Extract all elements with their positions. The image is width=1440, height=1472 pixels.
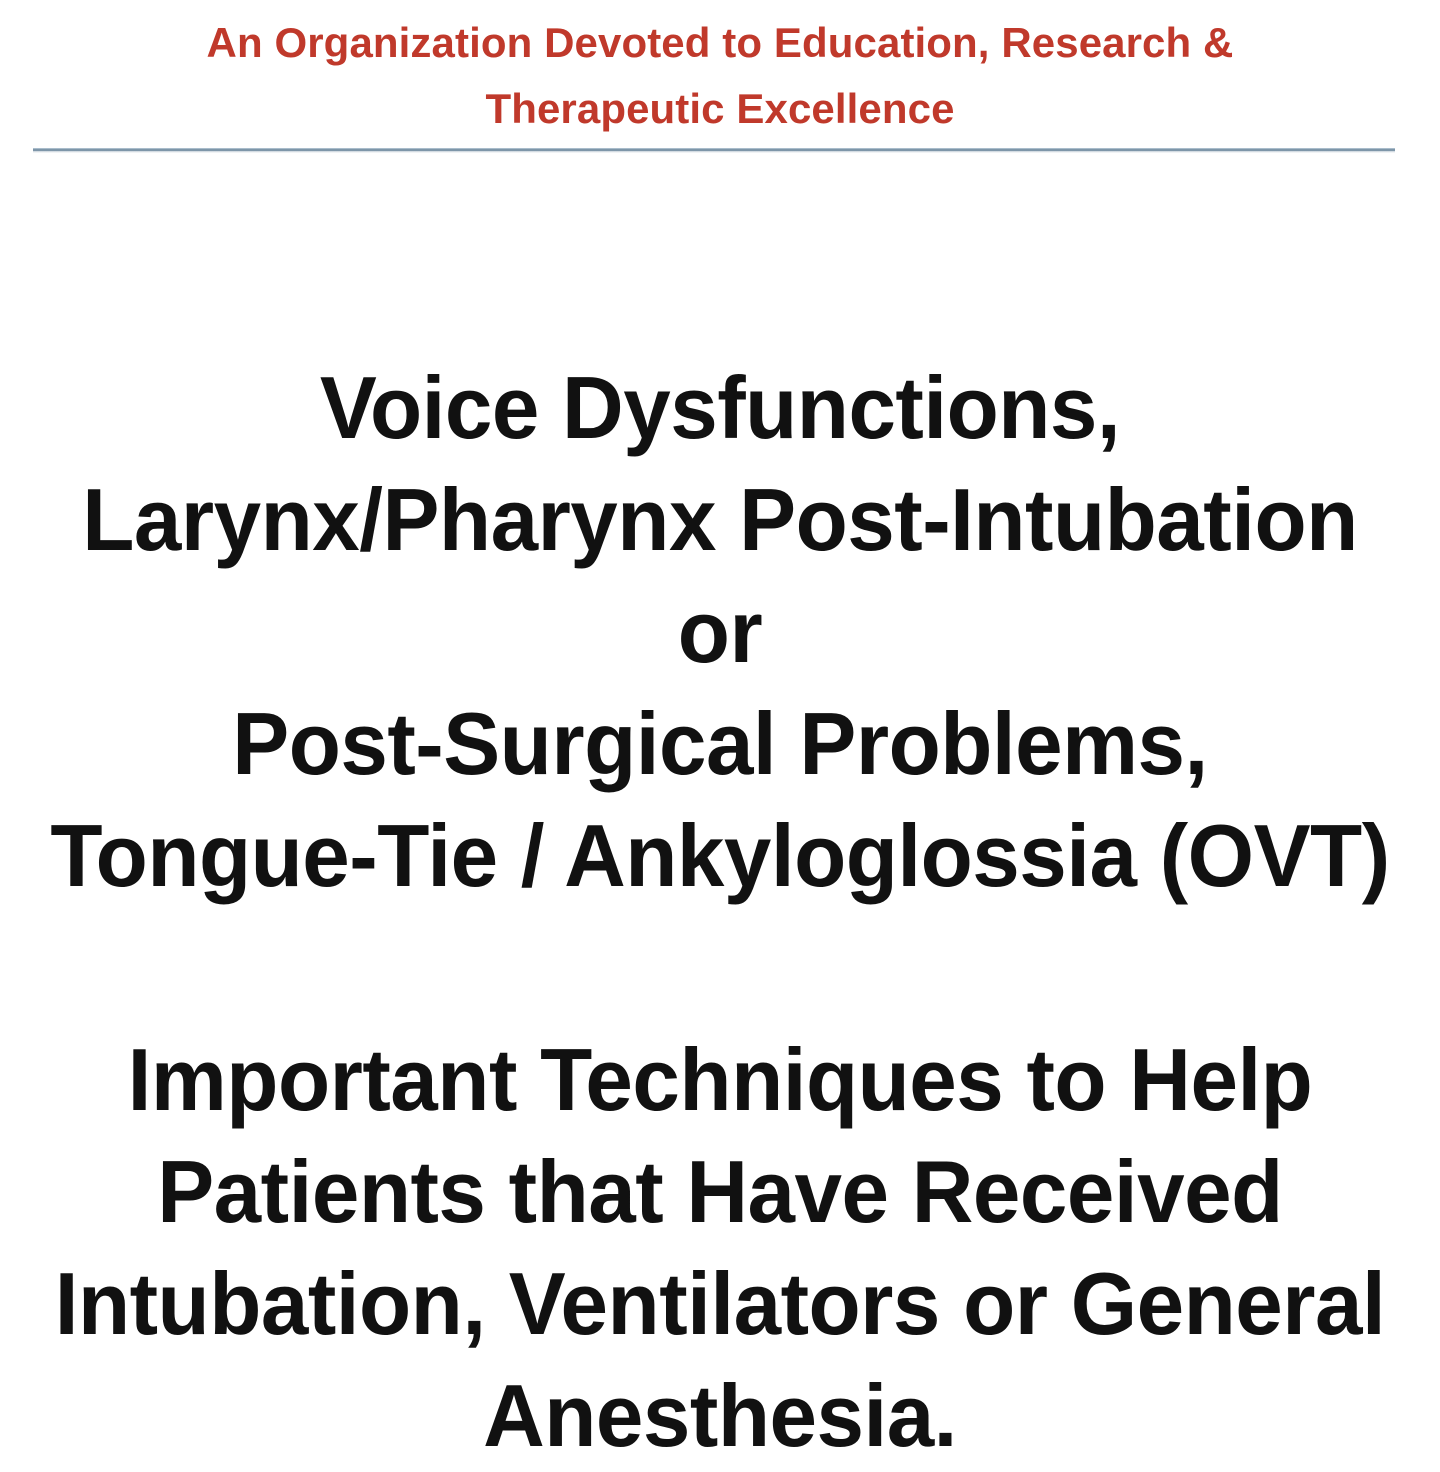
slide-canvas: An Organization Devoted to Education, Re…	[0, 0, 1440, 1440]
organization-tagline: An Organization Devoted to Education, Re…	[55, 10, 1385, 142]
techniques-paragraph: Important Techniques to Help Patients th…	[49, 1024, 1391, 1472]
topic-heading-paragraph: Voice Dysfunctions, Larynx/Pharynx Post-…	[49, 352, 1391, 912]
body-copy: Voice Dysfunctions, Larynx/Pharynx Post-…	[0, 352, 1440, 1472]
divider-shadow	[33, 151, 1395, 153]
header-divider	[33, 148, 1395, 156]
paragraph-spacer	[28, 912, 1412, 1024]
header-banner: An Organization Devoted to Education, Re…	[0, 0, 1440, 142]
